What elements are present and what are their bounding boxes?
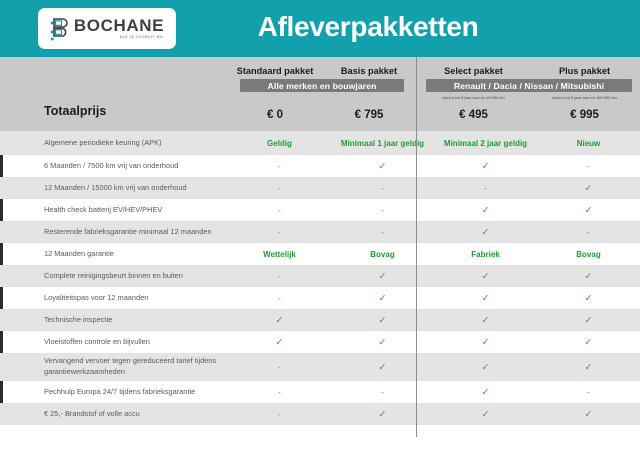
table-row: Loyaliteitspas voor 12 maanden-✓✓✓ <box>0 287 640 309</box>
cell-check: ✓ <box>434 362 537 373</box>
cell-dash: - <box>331 228 434 237</box>
cell-check: ✓ <box>228 337 331 348</box>
cell-check: ✓ <box>434 227 537 238</box>
cell-check: ✓ <box>331 362 434 373</box>
cell-text: Nieuw <box>537 139 640 148</box>
row-label: Vloeistoffen controle en bijvullen <box>0 337 228 348</box>
cell-dash: - <box>228 206 331 215</box>
cell-check: ✓ <box>331 337 434 348</box>
cell-check: ✓ <box>434 409 537 420</box>
cell-dash: - <box>331 388 434 397</box>
cell-check: ✓ <box>537 337 640 348</box>
table-row: Pechhulp Europa 24/7 tijdens fabrieksgar… <box>0 381 640 403</box>
package-sub: Auto's tot 3 jaar oud en 20.000 km <box>418 95 529 100</box>
cell-text: Bovag <box>537 250 640 259</box>
table-row: € 25,- Brandstof of volle accu-✓✓✓ <box>0 403 640 425</box>
row-label: Pechhulp Europa 24/7 tijdens fabrieksgar… <box>0 387 228 398</box>
cell-dash: - <box>537 388 640 397</box>
table-row: Vloeistoffen controle en bijvullen✓✓✓✓ <box>0 331 640 353</box>
cell-check: ✓ <box>537 271 640 282</box>
cell-check: ✓ <box>537 409 640 420</box>
cell-check: ✓ <box>434 271 537 282</box>
cell-dash: - <box>537 228 640 237</box>
cell-text: Minimaal 1 jaar geldig <box>331 139 434 148</box>
table-row: 12 Maanden / 15000 km vrij van onderhoud… <box>0 177 640 199</box>
cell-check: ✓ <box>537 315 640 326</box>
package-name: Standaard pakket <box>228 66 322 76</box>
cell-check: ✓ <box>228 315 331 326</box>
package-price: € 795 <box>322 109 416 121</box>
package-price: € 0 <box>228 109 322 121</box>
package-sub: Auto's tot 5 jaar oud en 100.000 km <box>529 95 640 100</box>
row-label: Algemene periodieke keuring (APK) <box>0 138 228 149</box>
cell-dash: - <box>228 363 331 372</box>
cell-dash: - <box>228 162 331 171</box>
table-row: Resterende fabrieksgarantie minimaal 12 … <box>0 221 640 243</box>
table-row: Health check batterij EV/HEV/PHEV--✓✓ <box>0 199 640 221</box>
cell-check: ✓ <box>537 183 640 194</box>
package-name: Select pakket <box>418 66 529 76</box>
cell-dash: - <box>228 272 331 281</box>
cell-check: ✓ <box>331 315 434 326</box>
cell-check: ✓ <box>331 409 434 420</box>
table-bottom-gap <box>0 425 640 432</box>
row-label: 6 Maanden / 7500 km vrij van onderhoud <box>0 161 228 172</box>
package-group-left: Standaard pakket Basis pakket Alle merke… <box>228 57 416 131</box>
table-row: Algemene periodieke keuring (APK)GeldigM… <box>0 131 640 155</box>
row-label: € 25,- Brandstof of volle accu <box>0 409 228 420</box>
row-label: Complete reinigingsbeurt binnen en buite… <box>0 271 228 282</box>
package-name: Plus pakket <box>529 66 640 76</box>
page-header: BOCHANE ALS JE VOORUIT WIL Afleverpakket… <box>0 0 640 57</box>
cell-check: ✓ <box>434 161 537 172</box>
cell-dash: - <box>434 184 537 193</box>
package-name: Basis pakket <box>322 66 416 76</box>
cell-check: ✓ <box>537 205 640 216</box>
row-label: 12 Maanden garantie <box>0 249 228 260</box>
cell-dash: - <box>228 294 331 303</box>
total-price-label: Totaalprijs <box>44 104 106 118</box>
cell-check: ✓ <box>434 293 537 304</box>
footer-strip <box>0 437 640 453</box>
cell-check: ✓ <box>537 293 640 304</box>
cell-text: Fabriek <box>434 250 537 259</box>
package-group-band: Alle merken en bouwjaren <box>240 79 404 92</box>
cell-dash: - <box>228 228 331 237</box>
cell-text: Wettelijk <box>228 250 331 259</box>
package-price: € 495 <box>418 109 529 121</box>
cell-check: ✓ <box>331 271 434 282</box>
cell-check: ✓ <box>434 315 537 326</box>
row-label: Health check batterij EV/HEV/PHEV <box>0 205 228 216</box>
package-header-block: Totaalprijs Standaard pakket Basis pakke… <box>0 57 640 131</box>
row-label: Technische inspectie <box>0 315 228 326</box>
page-title: Afleverpakketten <box>0 11 640 43</box>
cell-check: ✓ <box>331 161 434 172</box>
cell-check: ✓ <box>434 387 537 398</box>
table-row: Vervangend vervoer tegen gereduceerd tar… <box>0 353 640 381</box>
cell-dash: - <box>537 162 640 171</box>
cell-dash: - <box>331 184 434 193</box>
package-group-right: Select pakket Plus pakket Renault / Daci… <box>418 57 640 131</box>
cell-text: Bovag <box>331 250 434 259</box>
cell-text: Geldig <box>228 139 331 148</box>
feature-rows: Algemene periodieke keuring (APK)GeldigM… <box>0 131 640 432</box>
package-group-band: Renault / Dacia / Nissan / Mitsubishi <box>426 79 632 92</box>
cell-check: ✓ <box>434 337 537 348</box>
row-label: Loyaliteitspas voor 12 maanden <box>0 293 228 304</box>
table-row: Complete reinigingsbeurt binnen en buite… <box>0 265 640 287</box>
cell-check: ✓ <box>537 362 640 373</box>
row-label: Vervangend vervoer tegen gereduceerd tar… <box>0 356 228 377</box>
row-label: 12 Maanden / 15000 km vrij van onderhoud <box>0 183 228 194</box>
cell-dash: - <box>228 388 331 397</box>
cell-dash: - <box>228 410 331 419</box>
table-row: 12 Maanden garantieWettelijkBovagFabriek… <box>0 243 640 265</box>
table-row: 6 Maanden / 7500 km vrij van onderhoud-✓… <box>0 155 640 177</box>
cell-check: ✓ <box>434 205 537 216</box>
cell-dash: - <box>331 206 434 215</box>
cell-check: ✓ <box>331 293 434 304</box>
group-divider <box>416 57 417 445</box>
afleverpakketten-comparison-sheet: BOCHANE ALS JE VOORUIT WIL Afleverpakket… <box>0 0 640 453</box>
row-label: Resterende fabrieksgarantie minimaal 12 … <box>0 227 228 238</box>
package-price: € 995 <box>529 109 640 121</box>
cell-text: Minimaal 2 jaar geldig <box>434 139 537 148</box>
cell-dash: - <box>228 184 331 193</box>
table-row: Technische inspectie✓✓✓✓ <box>0 309 640 331</box>
